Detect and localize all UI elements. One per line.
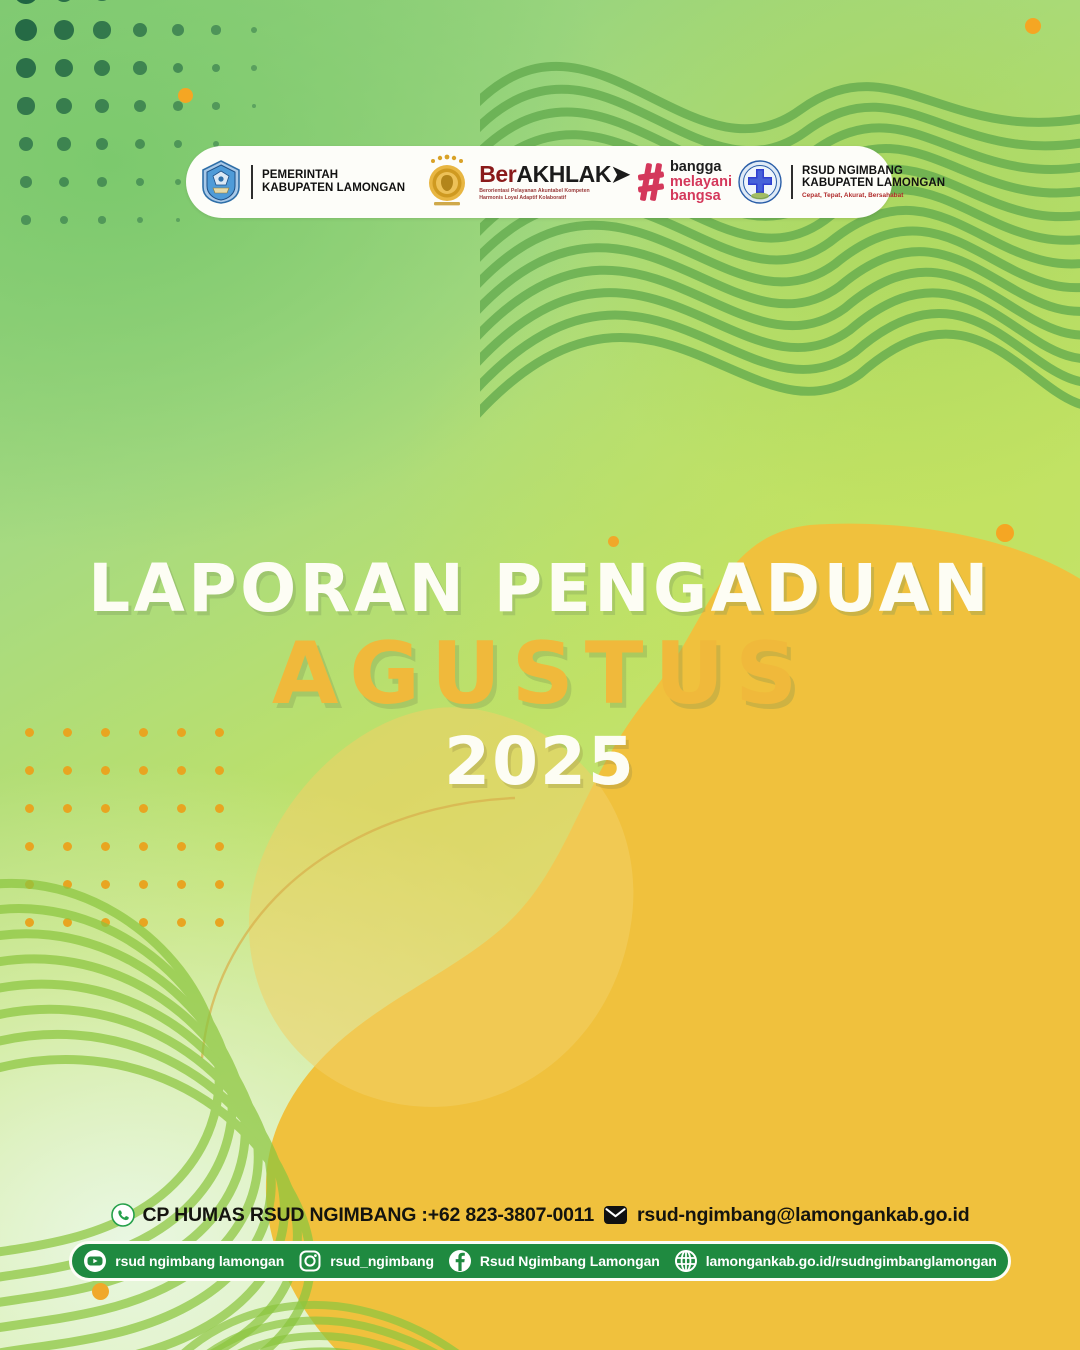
rsud-line1: RSUD NGIMBANG (802, 165, 945, 178)
youtube-icon[interactable] (83, 1249, 107, 1273)
rsud-line2: KABUPATEN LAMONGAN (802, 177, 945, 190)
email-icon[interactable] (602, 1203, 629, 1227)
logo-bar: PEMERINTAH KABUPATEN LAMONGAN BerAKHLAK➤… (186, 146, 892, 218)
bangga-melayani-hash-icon (636, 161, 666, 203)
instagram-icon[interactable] (298, 1249, 322, 1273)
logo-divider-2 (791, 165, 793, 199)
berakhlak-gold-seal (419, 153, 475, 211)
berakhlak-ber: Ber (479, 161, 516, 187)
bangga-line3: bangsa (670, 189, 732, 204)
gov-line1: PEMERINTAH (262, 169, 405, 182)
title-month: AGUSTUS (0, 628, 1080, 721)
title-main: LAPORAN PENGADUAN (0, 556, 1080, 622)
facebook-icon[interactable] (448, 1249, 472, 1273)
social-item-website[interactable]: lamongankab.go.id/rsudngimbanglamongan (674, 1249, 997, 1273)
social-item-instagram[interactable]: rsud_ngimbang (298, 1249, 434, 1273)
poster-canvas: PEMERINTAH KABUPATEN LAMONGAN BerAKHLAK➤… (0, 0, 1080, 1350)
berakhlak-tagline-2: Harmonis Loyal Adaptif Kolaboratif (479, 195, 599, 202)
contact-line: CP HUMAS RSUD NGIMBANG :+62 823-3807-001… (0, 1203, 1080, 1227)
logo-government: PEMERINTAH KABUPATEN LAMONGAN (200, 159, 405, 205)
berakhlak-tagline-1: Berorientasi Pelayanan Akuntabel Kompete… (479, 188, 599, 195)
social-handle-youtube: rsud ngimbang lamongan (115, 1253, 284, 1269)
bangga-line2: melayani (670, 175, 732, 190)
social-item-facebook[interactable]: Rsud Ngimbang Lamongan (448, 1249, 660, 1273)
rsud-tagline: Cepat, Tepat, Akurat, Bersahabat (802, 192, 945, 199)
kabupaten-lamongan-emblem (200, 159, 242, 205)
scatter-dot-orange-3 (996, 524, 1014, 542)
logo-divider-1 (251, 165, 253, 199)
social-handle-website: lamongankab.go.id/rsudngimbanglamongan (706, 1253, 997, 1269)
gov-line2: KABUPATEN LAMONGAN (262, 182, 405, 195)
social-item-youtube[interactable]: rsud ngimbang lamongan (83, 1249, 284, 1273)
social-media-bar: rsud ngimbang lamongan rsud_ngimbang Rsu… (69, 1241, 1011, 1281)
title-year: 2025 (0, 729, 1080, 795)
logo-bangga-melayani-bangsa: bangga melayani bangsa (636, 160, 732, 204)
scatter-dot-orange-4 (608, 536, 619, 547)
globe-icon[interactable] (674, 1249, 698, 1273)
scatter-dot-orange-1 (178, 88, 193, 103)
logo-rsud-ngimbang: RSUD NGIMBANG KABUPATEN LAMONGAN Cepat, … (738, 160, 945, 204)
scatter-dot-orange-2 (1025, 18, 1041, 34)
berakhlak-akhlak: AKHLAK (516, 161, 611, 187)
wave-lines-top-right (480, 0, 1080, 480)
social-handle-facebook: Rsud Ngimbang Lamongan (480, 1253, 660, 1269)
bangga-line1: bangga (670, 160, 732, 175)
rsud-ngimbang-logo (738, 160, 782, 204)
social-handle-instagram: rsud_ngimbang (330, 1253, 434, 1269)
logo-berakhlak: BerAKHLAK➤ Berorientasi Pelayanan Akunta… (479, 163, 630, 201)
whatsapp-icon[interactable] (111, 1203, 135, 1227)
contact-email: rsud-ngimbang@lamongankab.go.id (637, 1204, 969, 1227)
poster-title-block: LAPORAN PENGADUAN AGUSTUS 2025 (0, 556, 1080, 795)
contact-phone: CP HUMAS RSUD NGIMBANG :+62 823-3807-001… (143, 1204, 594, 1227)
scatter-dot-orange-5 (92, 1283, 109, 1300)
